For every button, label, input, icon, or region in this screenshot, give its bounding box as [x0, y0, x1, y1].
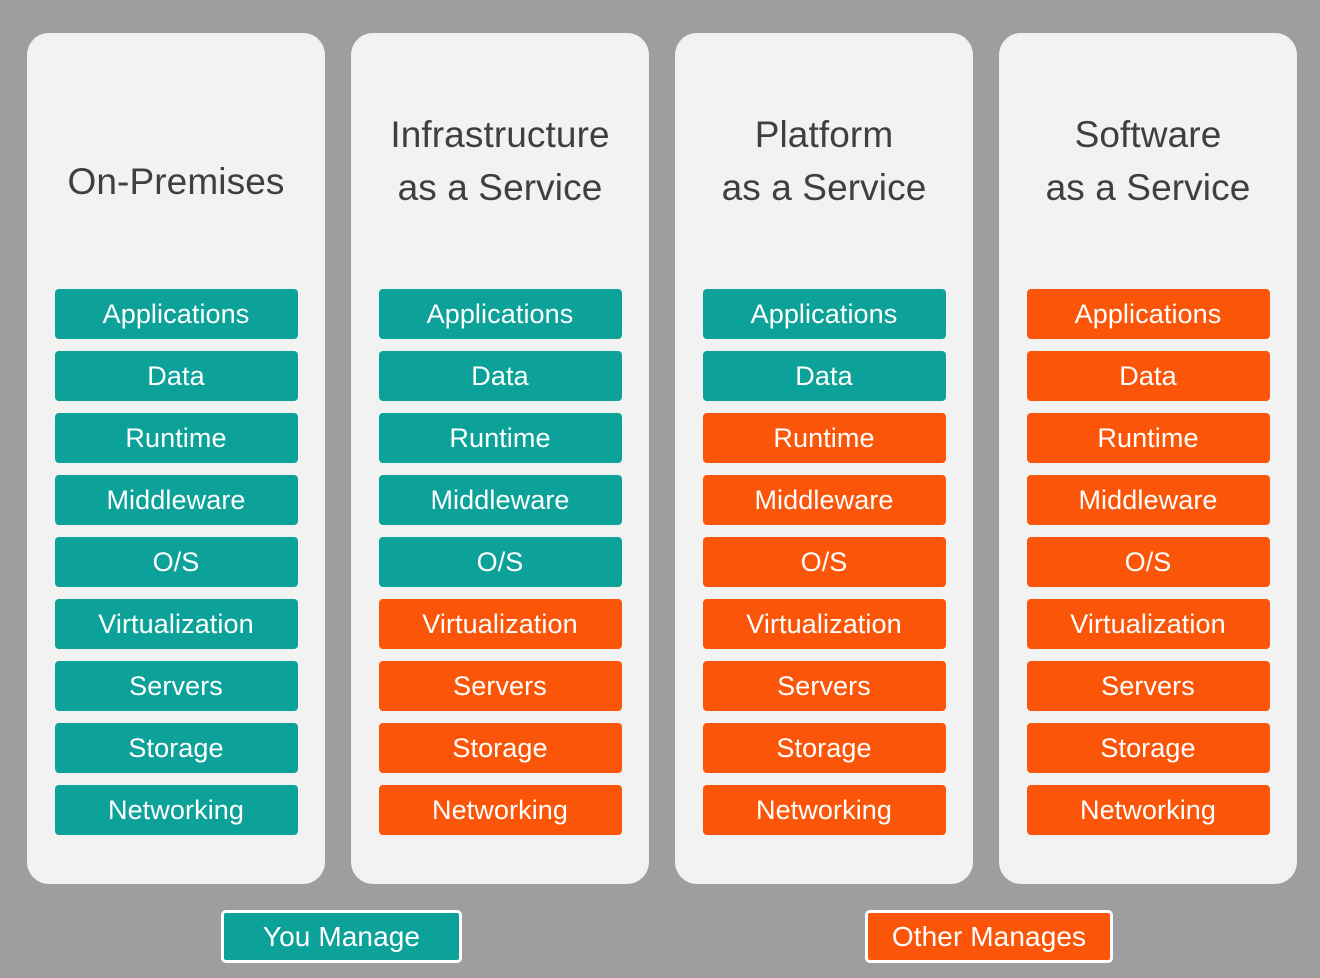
layer-os[interactable]: O/S [55, 537, 298, 587]
layer-networking[interactable]: Networking [1027, 785, 1270, 835]
column-infrastructure-as-a-service[interactable]: Infrastructure as a Service Applications… [351, 33, 649, 884]
column-on-premises[interactable]: On-Premises Applications Data Runtime Mi… [27, 33, 325, 884]
service-model-columns: On-Premises Applications Data Runtime Mi… [27, 33, 1297, 884]
layer-virtualization[interactable]: Virtualization [1027, 599, 1270, 649]
layer-runtime[interactable]: Runtime [55, 413, 298, 463]
layer-servers[interactable]: Servers [55, 661, 298, 711]
layer-data[interactable]: Data [703, 351, 946, 401]
layer-stack-on-premises: Applications Data Runtime Middleware O/S… [55, 289, 298, 835]
layer-storage[interactable]: Storage [1027, 723, 1270, 773]
legend-you-manage[interactable]: You Manage [221, 910, 462, 963]
layer-stack-infrastructure-as-a-service: Applications Data Runtime Middleware O/S… [379, 289, 622, 835]
layer-applications[interactable]: Applications [55, 289, 298, 339]
layer-virtualization[interactable]: Virtualization [379, 599, 622, 649]
column-title-on-premises: On-Premises [27, 33, 325, 289]
column-platform-as-a-service[interactable]: Platform as a Service Applications Data … [675, 33, 973, 884]
layer-storage[interactable]: Storage [55, 723, 298, 773]
layer-networking[interactable]: Networking [55, 785, 298, 835]
layer-servers[interactable]: Servers [703, 661, 946, 711]
layer-data[interactable]: Data [1027, 351, 1270, 401]
layer-virtualization[interactable]: Virtualization [55, 599, 298, 649]
layer-servers[interactable]: Servers [379, 661, 622, 711]
legend-other-manages[interactable]: Other Manages [865, 910, 1113, 963]
column-title-software-as-a-service: Software as a Service [999, 33, 1297, 289]
layer-applications[interactable]: Applications [703, 289, 946, 339]
layer-networking[interactable]: Networking [379, 785, 622, 835]
layer-servers[interactable]: Servers [1027, 661, 1270, 711]
layer-middleware[interactable]: Middleware [703, 475, 946, 525]
column-title-infrastructure-as-a-service: Infrastructure as a Service [351, 33, 649, 289]
layer-os[interactable]: O/S [379, 537, 622, 587]
layer-storage[interactable]: Storage [379, 723, 622, 773]
layer-data[interactable]: Data [55, 351, 298, 401]
layer-applications[interactable]: Applications [1027, 289, 1270, 339]
diagram-canvas: On-Premises Applications Data Runtime Mi… [0, 0, 1320, 978]
layer-runtime[interactable]: Runtime [379, 413, 622, 463]
layer-runtime[interactable]: Runtime [1027, 413, 1270, 463]
layer-middleware[interactable]: Middleware [379, 475, 622, 525]
column-software-as-a-service[interactable]: Software as a Service Applications Data … [999, 33, 1297, 884]
layer-storage[interactable]: Storage [703, 723, 946, 773]
layer-virtualization[interactable]: Virtualization [703, 599, 946, 649]
layer-runtime[interactable]: Runtime [703, 413, 946, 463]
layer-applications[interactable]: Applications [379, 289, 622, 339]
layer-stack-software-as-a-service: Applications Data Runtime Middleware O/S… [1027, 289, 1270, 835]
layer-data[interactable]: Data [379, 351, 622, 401]
column-title-platform-as-a-service: Platform as a Service [675, 33, 973, 289]
layer-os[interactable]: O/S [1027, 537, 1270, 587]
layer-networking[interactable]: Networking [703, 785, 946, 835]
layer-os[interactable]: O/S [703, 537, 946, 587]
layer-stack-platform-as-a-service: Applications Data Runtime Middleware O/S… [703, 289, 946, 835]
layer-middleware[interactable]: Middleware [1027, 475, 1270, 525]
layer-middleware[interactable]: Middleware [55, 475, 298, 525]
